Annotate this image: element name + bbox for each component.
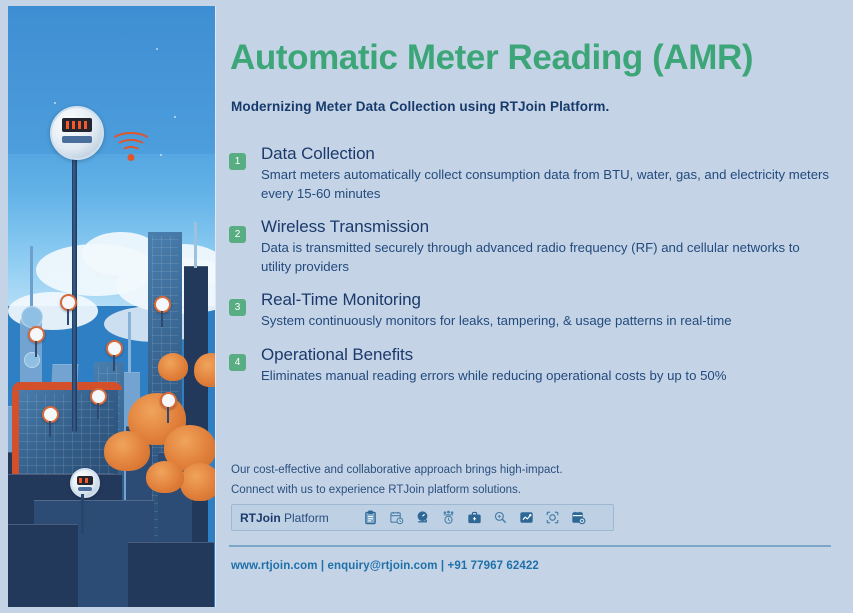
smart-meter-icon — [70, 468, 100, 498]
sensor-node-icon — [42, 406, 59, 423]
step-number-badge: 3 — [229, 299, 246, 316]
step-description: Smart meters automatically collect consu… — [261, 166, 831, 203]
sensor-node-icon — [90, 388, 107, 405]
list-item: 1 Data Collection Smart meters automatic… — [229, 144, 839, 203]
sensor-node-icon — [160, 392, 177, 409]
step-title: Data Collection — [261, 144, 839, 164]
contact-line: www.rtjoin.com | enquiry@rtjoin.com | +9… — [231, 560, 539, 572]
clipboard-icon[interactable] — [363, 510, 378, 525]
platform-icon-row — [363, 510, 586, 525]
platform-toolbar[interactable]: RTJoin Platform — [231, 504, 614, 531]
calendar-clock-icon[interactable] — [389, 510, 404, 525]
step-description: Data is transmitted securely through adv… — [261, 239, 831, 276]
platform-brand: RTJoin Platform — [240, 511, 329, 525]
meter-display-screen — [62, 118, 92, 132]
step-title: Real-Time Monitoring — [261, 290, 839, 310]
illustration-pane — [0, 0, 215, 613]
smart-city-amr-illustration — [8, 6, 216, 607]
slide-root: Automatic Meter Reading (AMR) Modernizin… — [0, 0, 853, 613]
sensor-node-icon — [106, 340, 123, 357]
footer-divider — [229, 545, 831, 547]
meter-pole — [72, 132, 77, 432]
content-pane: Automatic Meter Reading (AMR) Modernizin… — [215, 0, 853, 613]
sensor-node-icon — [154, 296, 171, 313]
chart-node-icon[interactable] — [519, 510, 534, 525]
meter-keypad — [62, 136, 92, 143]
step-description: System continuously monitors for leaks, … — [261, 312, 831, 331]
smart-meter-icon — [50, 106, 104, 160]
step-title: Wireless Transmission — [261, 217, 839, 237]
calendar-settings-icon[interactable] — [571, 510, 586, 525]
scan-target-icon[interactable] — [545, 510, 560, 525]
gauge-meter-icon[interactable] — [415, 510, 430, 525]
list-item: 4 Operational Benefits Eliminates manual… — [229, 345, 839, 386]
sensor-node-icon — [60, 294, 77, 311]
list-item: 2 Wireless Transmission Data is transmit… — [229, 217, 839, 276]
tagline: Our cost-effective and collaborative app… — [231, 460, 563, 500]
steps-list: 1 Data Collection Smart meters automatic… — [229, 144, 839, 399]
platform-brand-bold: RTJoin — [240, 511, 281, 525]
step-title: Operational Benefits — [261, 345, 839, 365]
wireless-signal-icon — [108, 132, 154, 164]
tagline-line-2: Connect with us to experience RTJoin pla… — [231, 480, 563, 500]
search-zoom-icon[interactable] — [493, 510, 508, 525]
sensor-node-icon — [28, 326, 45, 343]
step-number-badge: 4 — [229, 354, 246, 371]
meter-reading-digits — [66, 121, 88, 129]
autumn-trees — [8, 417, 215, 547]
page-title: Automatic Meter Reading (AMR) — [230, 38, 753, 78]
step-number-badge: 2 — [229, 226, 246, 243]
list-item: 3 Real-Time Monitoring System continuous… — [229, 290, 839, 331]
toolbox-icon[interactable] — [467, 510, 482, 525]
timer-network-icon[interactable] — [441, 510, 456, 525]
step-number-badge: 1 — [229, 153, 246, 170]
step-description: Eliminates manual reading errors while r… — [261, 367, 831, 386]
tagline-line-1: Our cost-effective and collaborative app… — [231, 460, 563, 480]
platform-brand-light: Platform — [284, 511, 329, 525]
page-subtitle: Modernizing Meter Data Collection using … — [231, 99, 609, 114]
